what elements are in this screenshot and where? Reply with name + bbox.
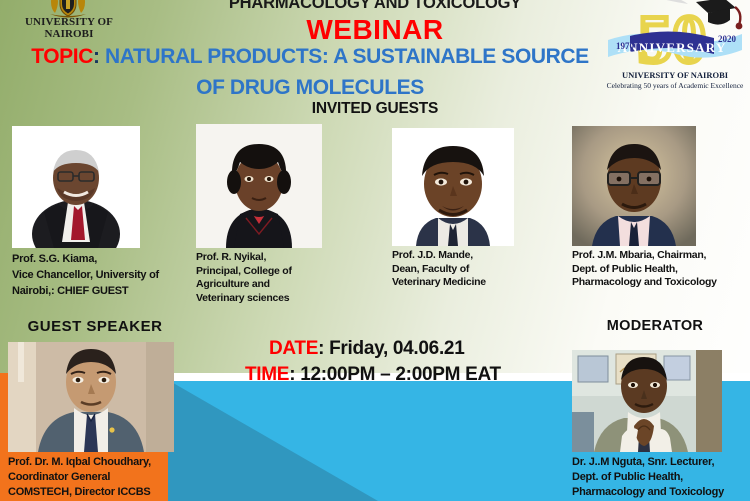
guest-line3: Nairobi,: CHIEF GUEST xyxy=(12,283,202,299)
guest-speaker-line2: Coordinator General xyxy=(8,470,198,485)
guest-speaker-caption: Prof. Dr. M. Iqbal Choudhary, Coordinato… xyxy=(8,455,198,500)
time-row: TIME: 12:00PM – 2:00PM EAT xyxy=(245,362,575,388)
guest-line2: Dean, Faculty of xyxy=(392,263,582,277)
anniversary-institution-label: UNIVERSITY OF NAIROBI xyxy=(600,70,750,80)
guest-photo-kiama xyxy=(12,126,140,248)
moderator-photo xyxy=(572,350,722,452)
moderator-line2: Dept. of Public Health, xyxy=(572,470,750,485)
guest-card-mande: Prof. J.D. Mande, Dean, Faculty of Veter… xyxy=(392,128,582,290)
topic-line-2: OF DRUG MOLECULES xyxy=(0,76,620,100)
guest-photo-nyikal xyxy=(196,124,322,248)
guest-name: Prof. J.D. Mande, xyxy=(392,249,582,263)
guest-card-kiama: Prof. S.G. Kiama, Vice Chancellor, Unive… xyxy=(12,126,202,299)
guest-line2: Principal, College of xyxy=(196,265,376,279)
time-value: : 12:00PM – 2:00PM EAT xyxy=(289,364,501,385)
invited-guests-heading: INVITED GUESTS xyxy=(0,100,750,118)
guest-caption-kiama: Prof. S.G. Kiama, Vice Chancellor, Unive… xyxy=(12,251,202,299)
topic-text-line1: NATURAL PRODUCTS: A SUSTAINABLE SOURCE xyxy=(105,45,589,68)
topic-label: TOPIC xyxy=(31,45,93,68)
date-value: : Friday, 04.06.21 xyxy=(318,338,464,359)
moderator-caption: Dr. J..M Nguta, Snr. Lecturer, Dept. of … xyxy=(572,455,750,500)
guest-speaker-heading: GUEST SPEAKER xyxy=(10,318,180,335)
anniversary-tagline: Celebrating 50 years of Academic Excelle… xyxy=(600,81,750,90)
guest-card-mbaria: Prof. J.M. Mbaria, Chairman, Dept. of Pu… xyxy=(572,126,750,290)
schedule-block: DATE: Friday, 04.06.21 TIME: 12:00PM – 2… xyxy=(245,336,575,388)
guest-card-nyikal: Prof. R. Nyikal, Principal, College of A… xyxy=(196,124,376,305)
guest-line3: Pharmacology and Toxicology xyxy=(572,276,750,290)
webinar-heading: WEBINAR xyxy=(0,14,750,46)
moderator-card: Dr. J..M Nguta, Snr. Lecturer, Dept. of … xyxy=(572,350,750,500)
webinar-poster: UNIVERSITY OF NAIROBI 50 ANNIVERSARY 197… xyxy=(0,0,750,501)
moderator-line3: Pharmacology and Toxicology xyxy=(572,485,750,500)
guest-speaker-name: Prof. Dr. M. Iqbal Choudhary, xyxy=(8,455,198,470)
topic-separator: : xyxy=(93,45,100,68)
guest-line2: Vice Chancellor, University of xyxy=(12,267,202,283)
guest-name: Prof. J.M. Mbaria, Chairman, xyxy=(572,249,750,263)
guest-line3: Veterinary Medicine xyxy=(392,276,582,290)
guest-caption-mbaria: Prof. J.M. Mbaria, Chairman, Dept. of Pu… xyxy=(572,249,750,290)
moderator-heading: MODERATOR xyxy=(560,318,750,334)
guest-photo-mbaria xyxy=(572,126,696,246)
moderator-name: Dr. J..M Nguta, Snr. Lecturer, xyxy=(572,455,750,470)
topic-line-1: TOPIC: NATURAL PRODUCTS: A SUSTAINABLE S… xyxy=(0,45,620,69)
guest-caption-mande: Prof. J.D. Mande, Dean, Faculty of Veter… xyxy=(392,249,582,290)
date-label: DATE xyxy=(269,338,318,359)
guest-speaker-card: Prof. Dr. M. Iqbal Choudhary, Coordinato… xyxy=(8,342,198,500)
guest-speaker-photo xyxy=(8,342,174,452)
guest-line2: Dept. of Public Health, xyxy=(572,263,750,277)
department-title: PHARMACOLOGY AND TOXICOLOGY xyxy=(0,0,750,13)
guest-photo-mande xyxy=(392,128,514,246)
guest-line4: Veterinary sciences xyxy=(196,292,376,306)
date-row: DATE: Friday, 04.06.21 xyxy=(245,336,575,362)
guest-line3: Agriculture and xyxy=(196,278,376,292)
guest-speaker-line3: COMSTECH, Director ICCBS xyxy=(8,485,198,500)
guest-name: Prof. R. Nyikal, xyxy=(196,251,376,265)
time-label: TIME xyxy=(245,364,289,385)
guest-name: Prof. S.G. Kiama, xyxy=(12,251,202,267)
guest-caption-nyikal: Prof. R. Nyikal, Principal, College of A… xyxy=(196,251,376,305)
